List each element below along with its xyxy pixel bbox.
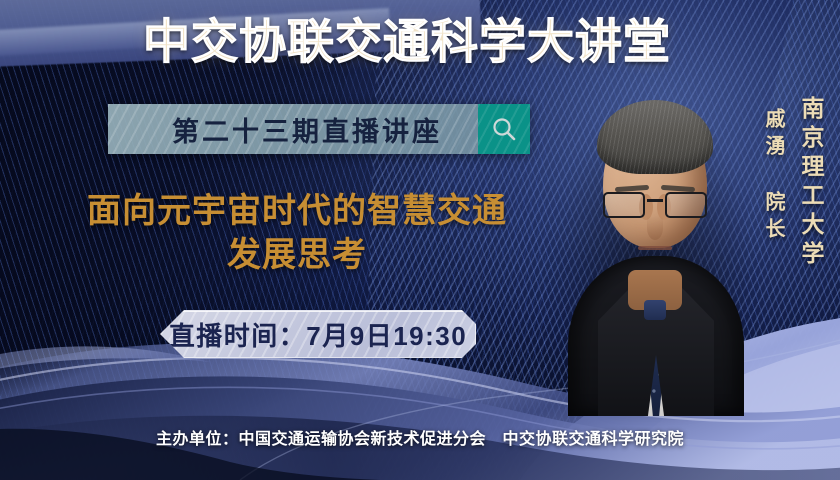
organizer-footer: 主办单位：中国交通运输协会新技术促进分会 中交协联交通科学研究院 [0, 425, 840, 449]
subtitle-bar: 第二十三期直播讲座 [108, 104, 530, 154]
search-button[interactable] [478, 104, 530, 154]
lecture-topic-line1: 面向元宇宙时代的智慧交通 [62, 190, 532, 234]
broadcast-time-badge: 直播时间：7月9日19:30 [160, 310, 476, 358]
speaker-name-title: 戚湧 院长 [759, 108, 788, 245]
lecture-topic-line2: 发展思考 [62, 234, 532, 278]
subtitle-bar-fill: 第二十三期直播讲座 [108, 104, 478, 154]
speaker-portrait [562, 86, 748, 416]
subtitle-label: 第二十三期直播讲座 [144, 110, 442, 149]
speaker-organization: 南京理工大学 [794, 96, 828, 270]
portrait-tie-knot [644, 300, 666, 320]
portrait-mouth [638, 246, 672, 250]
page-title: 中交协联交通科学大讲堂 [143, 18, 671, 65]
search-icon [490, 115, 518, 143]
poster-stage: 中交协联交通科学大讲堂 第二十三期直播讲座 面向元宇宙时代的智慧交通 发展思考 … [0, 0, 840, 480]
glasses-icon [603, 192, 707, 220]
broadcast-time-label: 直播时间：7月9日19:30 [169, 316, 467, 353]
lecture-topic: 面向元宇宙时代的智慧交通 发展思考 [62, 190, 532, 277]
